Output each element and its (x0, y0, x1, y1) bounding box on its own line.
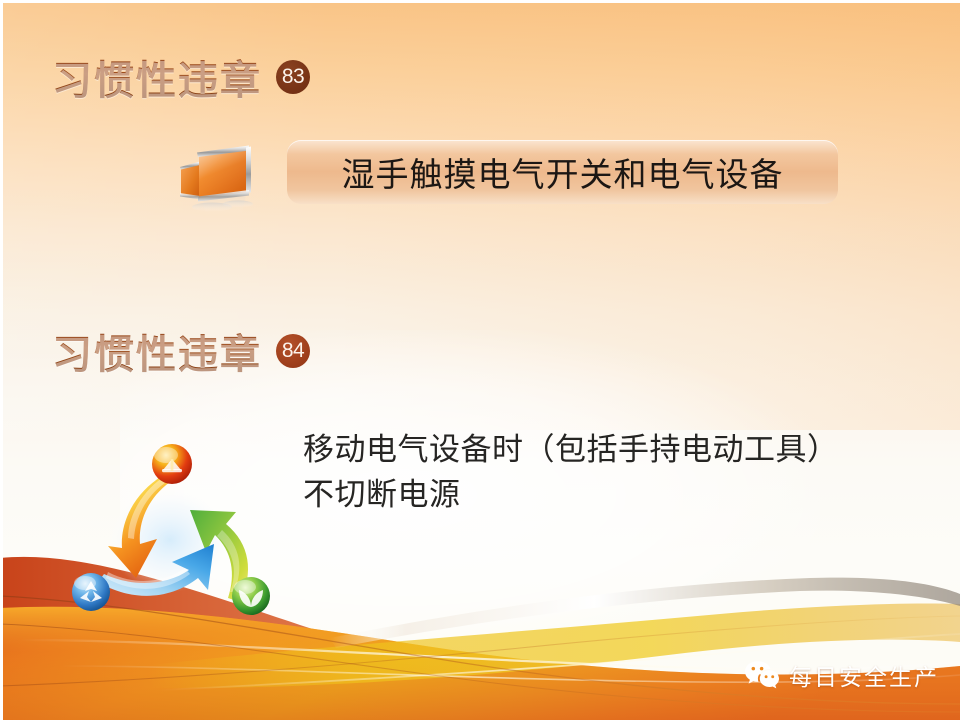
wechat-watermark: 每日安全生产 (744, 658, 939, 692)
heading-text-2: 习惯性违章 (52, 322, 262, 380)
banner-row-1: 湿手触摸电气开关和电气设备 (168, 132, 868, 230)
leaf-badge (232, 577, 270, 615)
body-paragraph-2: 移动电气设备时（包括手持电动工具） 不切断电源 (303, 428, 903, 518)
orange-screens-icon (168, 134, 264, 230)
section-badge-84: 84 (276, 334, 310, 368)
section-badge-83: 83 (276, 60, 310, 94)
recycle-arrows-graphic (58, 432, 288, 627)
heading-text-1: 习惯性违章 (52, 48, 262, 106)
watermark-text: 每日安全生产 (789, 658, 939, 692)
section-heading-2: 习惯性违章 84 (52, 322, 310, 380)
slide-canvas: 习惯性违章 83 (0, 0, 960, 720)
body-line-2: 不切断电源 (303, 473, 903, 518)
safety-helmet-badge (152, 444, 192, 484)
section-heading-1: 习惯性违章 83 (52, 48, 310, 106)
body-line-1: 移动电气设备时（包括手持电动工具） (303, 428, 903, 473)
banner-text-1: 湿手触摸电气开关和电气设备 (342, 148, 784, 196)
recycle-badge (72, 573, 110, 611)
banner-pill-1: 湿手触摸电气开关和电气设备 (287, 140, 838, 204)
wechat-icon (744, 660, 780, 690)
